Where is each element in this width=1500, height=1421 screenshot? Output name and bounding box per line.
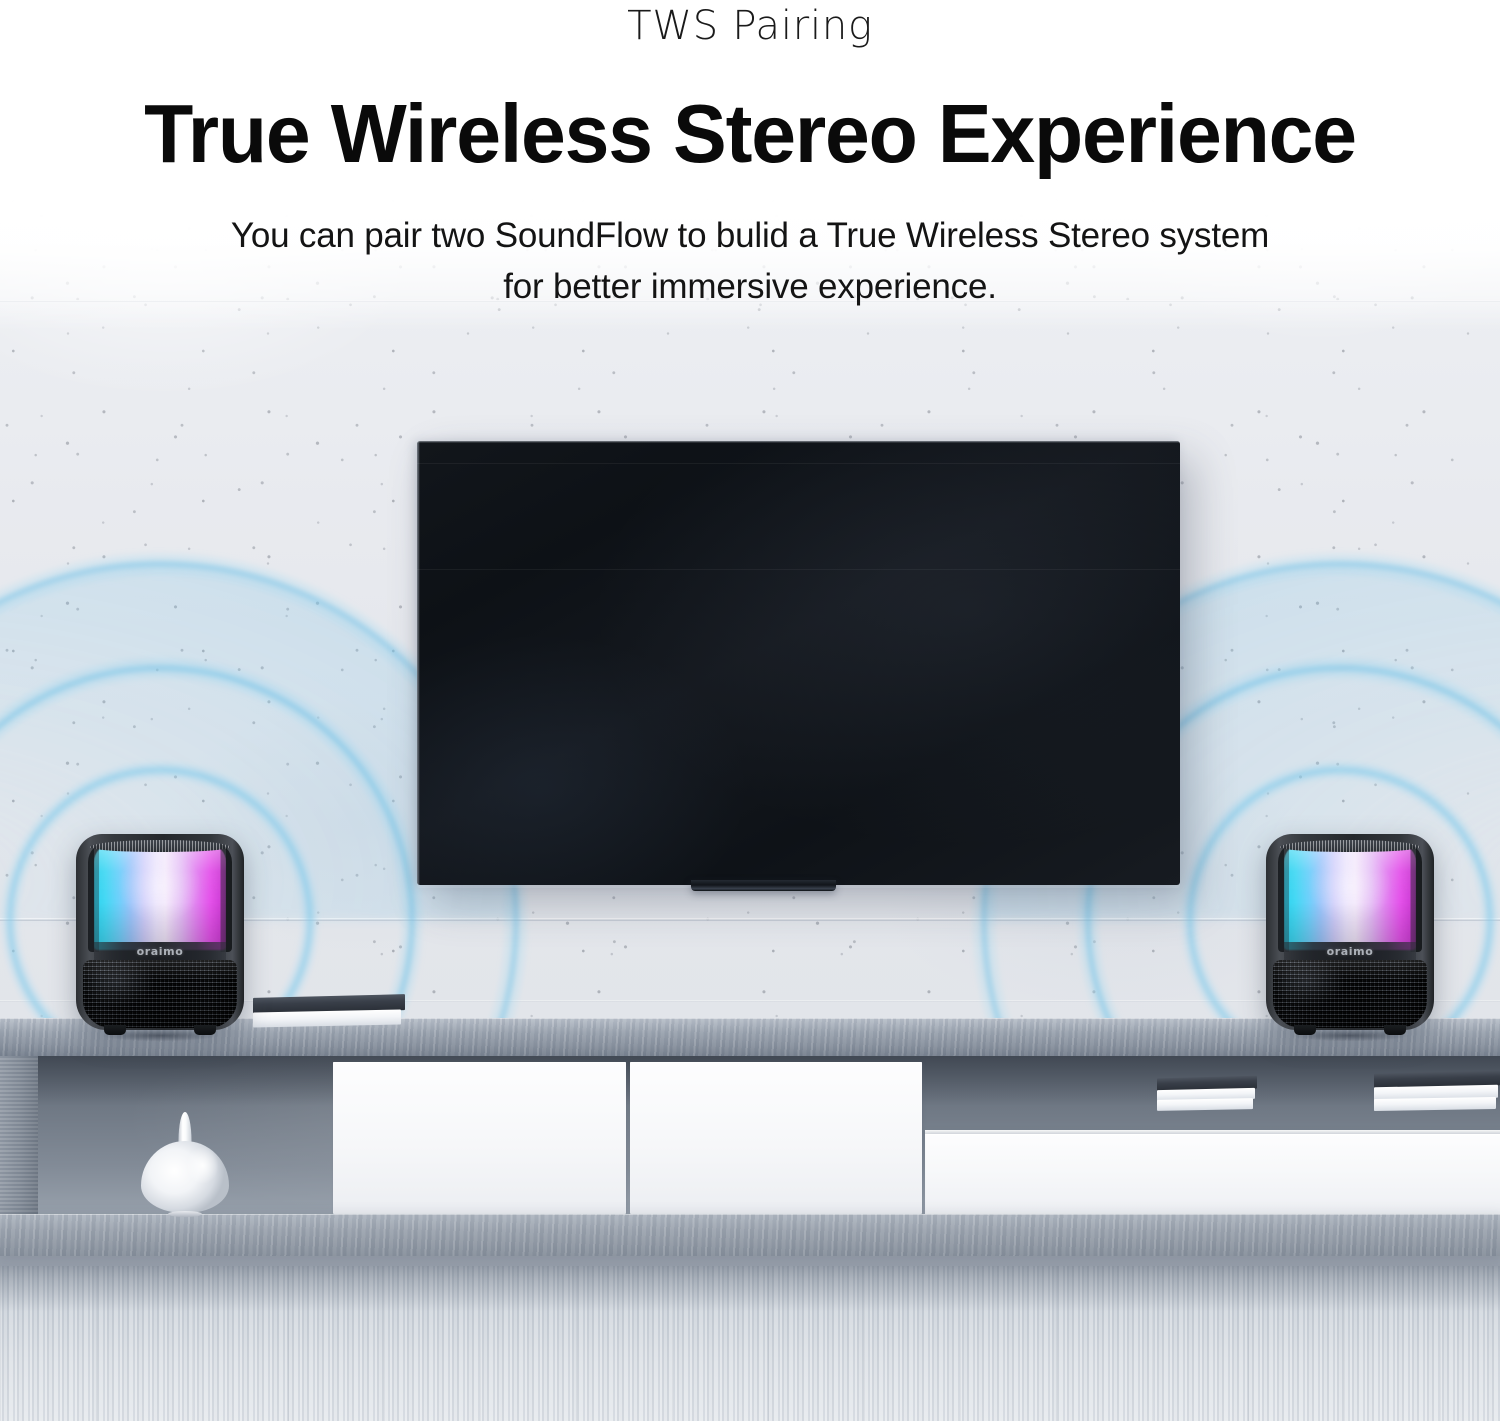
speaker-left: oraimo (76, 834, 244, 1039)
console-door-right[interactable] (630, 1062, 922, 1214)
speaker-grille-sheen (1273, 960, 1427, 1028)
book (253, 1009, 401, 1027)
wood-floor (0, 1266, 1500, 1421)
book-stack-far-right (1374, 1072, 1500, 1112)
brand-logo: oraimo (1284, 945, 1416, 958)
speaker-foot (1384, 1025, 1406, 1035)
speaker-right: oraimo (1266, 834, 1434, 1039)
speaker-foot (104, 1025, 126, 1035)
book (1374, 1097, 1496, 1111)
console-door-left[interactable] (333, 1062, 626, 1214)
subcopy-text: You can pair two SoundFlow to bulid a Tr… (0, 211, 1500, 313)
header-text-block: TWS Pairing True Wireless Stereo Experie… (0, 0, 1500, 322)
speaker-contact-shadow (78, 1030, 242, 1044)
speaker-contact-shadow (1268, 1030, 1432, 1044)
page-title: True Wireless Stereo Experience (23, 92, 1478, 175)
brand-logo: oraimo (94, 945, 226, 958)
eyebrow-label: TWS Pairing (0, 0, 1500, 46)
subcopy-line-1: You can pair two SoundFlow to bulid a Tr… (0, 211, 1500, 262)
book (1157, 1098, 1253, 1111)
console-base-plinth (0, 1214, 1500, 1256)
vase-body (141, 1141, 229, 1213)
television (417, 441, 1180, 885)
vase-foot (168, 1211, 202, 1217)
speaker-foot (194, 1025, 216, 1035)
speaker-foot (1294, 1025, 1316, 1035)
subcopy-line-2: for better immersive experience. (0, 262, 1500, 313)
decor-vase (141, 1112, 229, 1217)
tv-screen-reflection (417, 441, 1180, 885)
console-drawer[interactable] (925, 1134, 1500, 1218)
book-stack-left (253, 996, 405, 1034)
speaker-grille-sheen (83, 960, 237, 1028)
speaker-led-side-shading (1278, 842, 1422, 952)
tv-mount-bar (691, 880, 836, 891)
speaker-led-side-shading (88, 842, 232, 952)
console-left-panel (0, 1054, 38, 1219)
book-stack-center-right (1157, 1077, 1257, 1113)
